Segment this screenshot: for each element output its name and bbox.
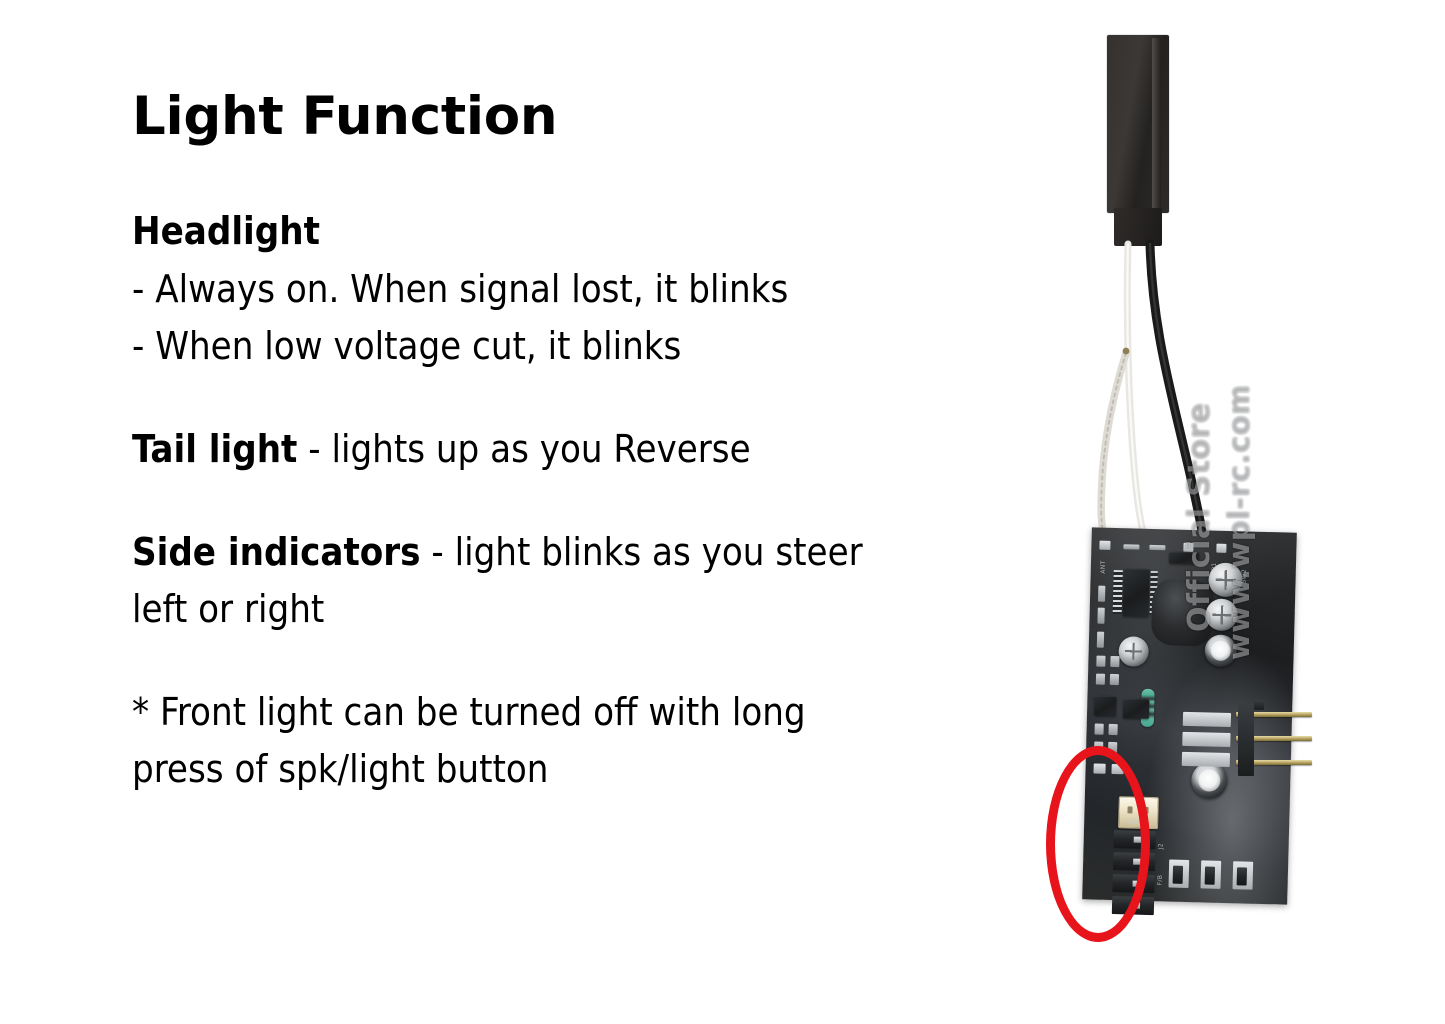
capacitor-top <box>1198 769 1221 792</box>
header-solder-row <box>1183 712 1231 727</box>
antenna-wire <box>1101 353 1126 538</box>
section-footnote: * Front light can be turned off with lon… <box>132 684 1012 798</box>
ic-pins-left <box>1113 570 1123 614</box>
servo-plug-neck <box>1114 208 1162 246</box>
headlight-bullet-2: - When low voltage cut, it blinks <box>132 318 1012 375</box>
terminal-pin <box>1205 866 1215 884</box>
smd-component <box>1097 608 1104 624</box>
page-title: Light Function <box>132 88 1012 145</box>
white-wire <box>1127 244 1144 536</box>
side-indicators-line: Side indicators - light blinks as you st… <box>132 524 1012 581</box>
tail-light-line: Tail light - lights up as you Reverse <box>132 421 1012 478</box>
silk-ant: ANT <box>1100 560 1107 573</box>
servo-plug-ridge <box>1152 38 1161 210</box>
rc-receiver-circuit-board-photo: ANT P1 SW2 <box>1040 20 1420 970</box>
black-wire-highlight <box>1150 244 1203 536</box>
section-heading-side-indicators: Side indicators <box>132 530 421 574</box>
header-plastic-tab <box>1254 700 1264 710</box>
smd-component <box>1108 724 1117 735</box>
side-indicators-description: - light blinks as you steer <box>421 530 863 574</box>
smd-component <box>1096 656 1105 667</box>
section-heading-tail-light: Tail light <box>132 427 297 471</box>
capacitor-top <box>1210 641 1231 662</box>
smd-resistor <box>1149 545 1165 550</box>
silk-fb: F/B <box>1157 875 1164 886</box>
header-solder-row <box>1182 752 1230 767</box>
headlight-bullet-1: - Always on. When signal lost, it blinks <box>132 261 1012 318</box>
solder-pad <box>1216 544 1226 553</box>
black-wire <box>1150 244 1203 536</box>
section-side-indicators: Side indicators - light blinks as you st… <box>132 524 1012 638</box>
side-indicators-line-2: left or right <box>132 581 1012 638</box>
ic-chip <box>1123 568 1150 617</box>
terminal-pin <box>1237 867 1247 885</box>
footnote-line-1: * Front light can be turned off with lon… <box>132 684 1012 741</box>
footnote-line-2: press of spk/light button <box>132 741 1012 798</box>
antenna-braid-texture <box>1101 353 1126 538</box>
tail-light-description: - lights up as you Reverse <box>297 427 750 471</box>
smd-component <box>1110 656 1119 667</box>
smd-component <box>1169 551 1199 564</box>
slide-canvas: Light Function Headlight - Always on. Wh… <box>0 0 1445 1024</box>
mosfet <box>1123 698 1150 719</box>
smd-component <box>1110 674 1119 685</box>
silk-j2: J2 <box>1158 843 1165 849</box>
header-solder-row <box>1182 732 1230 747</box>
text-content-column: Light Function Headlight - Always on. Wh… <box>132 88 1012 798</box>
white-wire-highlight <box>1127 244 1144 536</box>
solder-pad <box>1099 541 1110 550</box>
section-heading-headlight: Headlight <box>132 203 1012 259</box>
smd-component <box>1096 674 1105 685</box>
smd-component <box>1098 586 1105 602</box>
section-headlight: Headlight - Always on. When signal lost,… <box>132 203 1012 375</box>
smd-resistor <box>1123 544 1139 549</box>
header-plastic-block <box>1238 704 1254 776</box>
red-ellipse-highlight <box>1046 746 1150 942</box>
smd-component <box>1097 632 1104 648</box>
voltage-regulator <box>1094 696 1117 717</box>
solder-pad <box>1183 543 1193 552</box>
smd-component <box>1094 724 1103 735</box>
section-tail-light: Tail light - lights up as you Reverse <box>132 421 1012 478</box>
terminal-pin <box>1173 866 1183 884</box>
antenna-tip <box>1123 348 1130 355</box>
